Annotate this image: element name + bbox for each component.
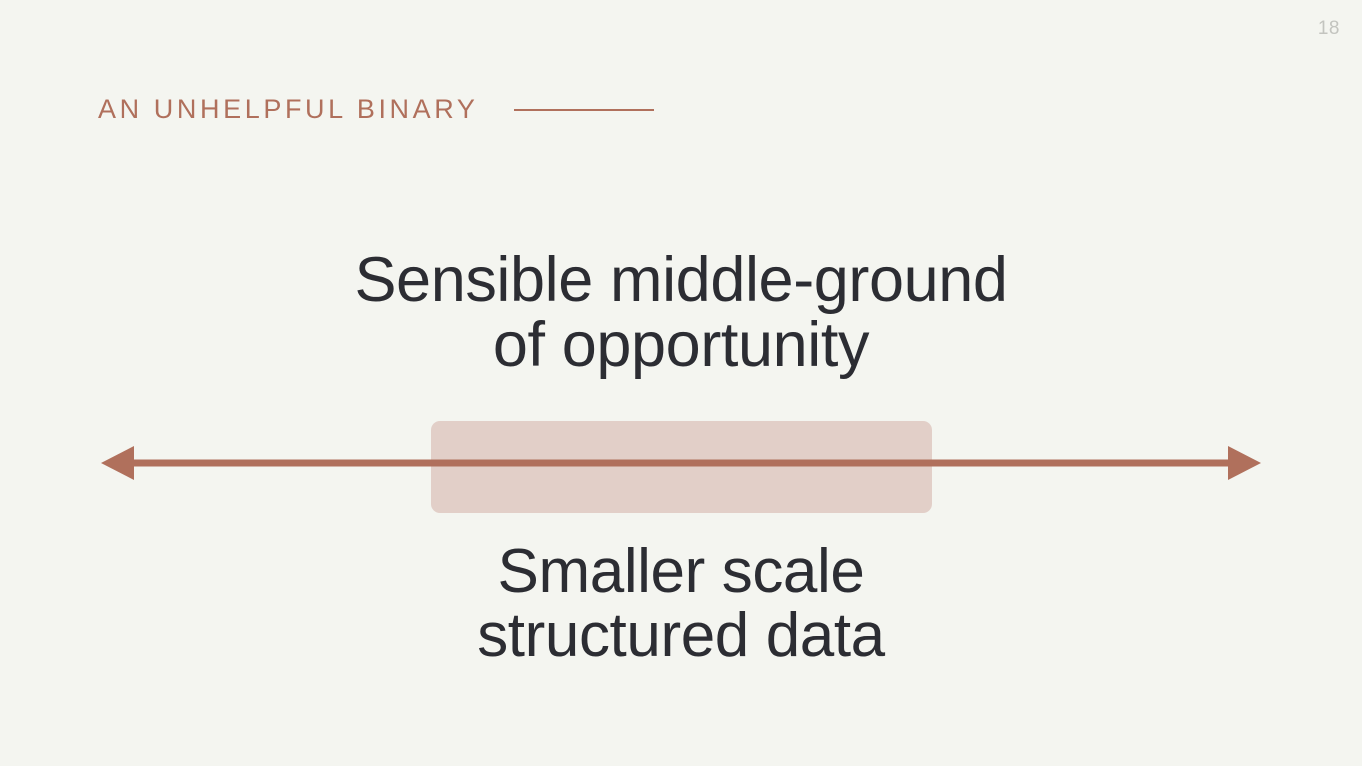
middle-ground-band [431,421,932,513]
top-label-line-2: of opportunity [0,313,1362,378]
bottom-label-line-2: structured data [0,604,1362,668]
bottom-label: Smaller scale structured data [0,540,1362,668]
bottom-label-line-1: Smaller scale [0,540,1362,604]
page-number: 18 [1318,18,1340,40]
top-label: Sensible middle-ground of opportunity [0,248,1362,378]
slide: 18 AN UNHELPFUL BINARY Sensible middle-g… [0,0,1362,766]
section-eyebrow: AN UNHELPFUL BINARY [98,96,654,123]
section-title: AN UNHELPFUL BINARY [98,96,478,123]
top-label-line-1: Sensible middle-ground [0,248,1362,313]
left-arrowhead [101,446,134,480]
right-arrowhead [1228,446,1261,480]
eyebrow-rule [514,109,654,111]
